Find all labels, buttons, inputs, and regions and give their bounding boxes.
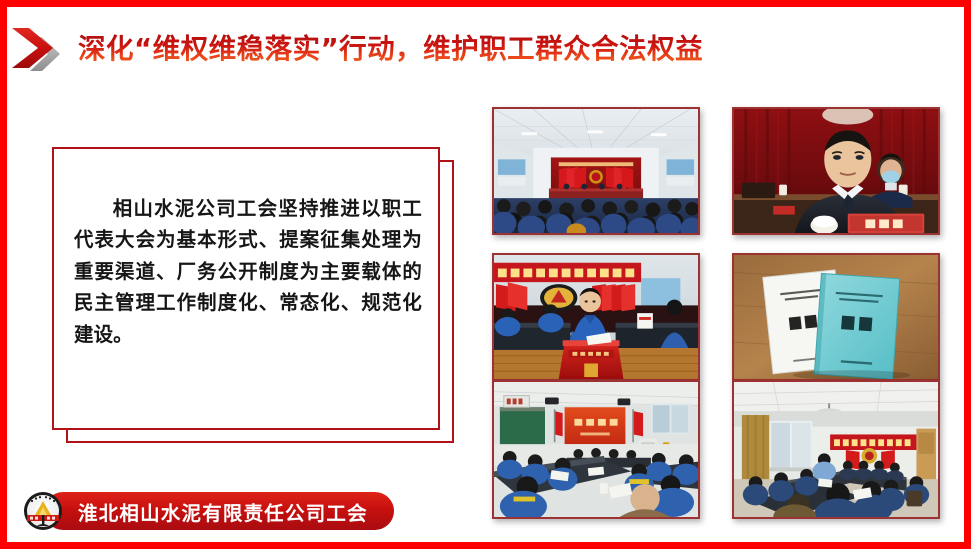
photo-grid-bottom-row xyxy=(492,380,947,519)
photo-group-discussion[interactable] xyxy=(492,380,700,519)
photo-meeting-materials[interactable] xyxy=(732,253,940,381)
footer-banner: 淮北相山水泥有限责任公司工会 xyxy=(16,489,394,533)
photo-speaker-podium[interactable] xyxy=(492,253,700,381)
company-emblem-logo xyxy=(16,490,70,532)
double-chevron-right-icon xyxy=(8,23,74,75)
footer-banner-text: 淮北相山水泥有限责任公司工会 xyxy=(78,497,368,526)
slide-header: 深化“维权维稳落实”行动，维护职工群众合法权益 xyxy=(8,18,928,80)
photo-committee-meeting[interactable] xyxy=(732,380,940,519)
photo-conference-hall[interactable] xyxy=(492,107,700,235)
slide-root: 深化“维权维稳落实”行动，维护职工群众合法权益 相山水泥公司工会坚持推进以职工代… xyxy=(0,0,971,549)
footer-pill: 淮北相山水泥有限责任公司工会 xyxy=(44,492,394,530)
text-card: 相山水泥公司工会坚持推进以职工代表大会为基本形式、提案征集处理为重要渠道、厂务公… xyxy=(52,147,440,430)
page-title: 深化“维权维稳落实”行动，维护职工群众合法权益 xyxy=(78,34,703,64)
text-card-body: 相山水泥公司工会坚持推进以职工代表大会为基本形式、提案征集处理为重要渠道、厂务公… xyxy=(74,193,422,350)
photo-leader-at-rostrum[interactable] xyxy=(732,107,940,235)
